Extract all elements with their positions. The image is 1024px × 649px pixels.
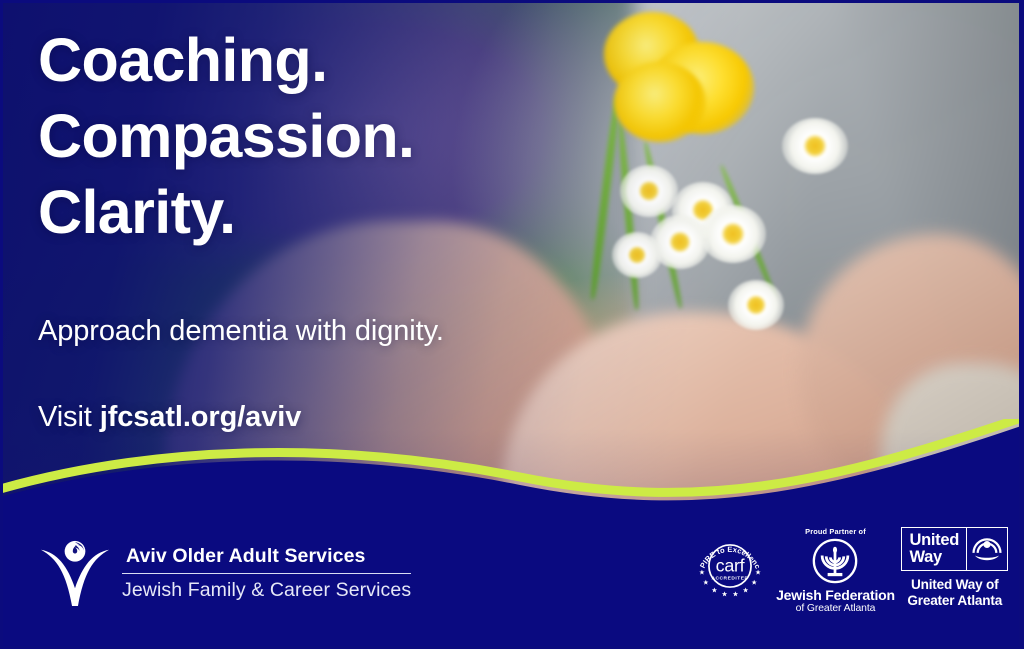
- jfcs-logo-lockup[interactable]: Aviv Older Adult Services Jewish Family …: [38, 535, 411, 609]
- federation-name: Jewish Federation: [776, 587, 895, 603]
- menorah-circle-mark: [812, 538, 858, 584]
- federation-sub: of Greater Atlanta: [796, 603, 876, 614]
- jfcs-primary-name: Aviv Older Adult Services: [122, 545, 411, 574]
- advertisement-banner: Coaching. Compassion. Clarity. Approach …: [0, 0, 1024, 649]
- carf-wordmark: carf: [716, 555, 745, 575]
- headline-line-2: Compassion.: [38, 98, 658, 174]
- united-way-caption-2: Greater Atlanta: [907, 593, 1002, 608]
- carf-accredited-text: ACCREDITED: [712, 575, 749, 581]
- aviv-v-swoosh-mark: [38, 535, 112, 609]
- partner-united-way[interactable]: United Way United Way of Greate: [901, 527, 1008, 609]
- partner-jewish-federation[interactable]: Proud Partner of Jewish Federation of Gr…: [783, 527, 887, 614]
- cta-prefix: Visit: [38, 401, 100, 433]
- united-way-logo-box: United Way: [901, 527, 1008, 571]
- united-way-wordmark: United Way: [902, 528, 966, 570]
- headline-line-3: Clarity.: [38, 174, 658, 250]
- headline-line-1: Coaching.: [38, 22, 658, 98]
- subhead-text: Approach dementia with dignity.: [38, 314, 658, 348]
- call-to-action: Visit jfcsatl.org/aviv: [38, 400, 658, 434]
- united-way-symbol-cell: [966, 528, 1007, 570]
- copy-block: Coaching. Compassion. Clarity. Approach …: [38, 22, 658, 434]
- united-way-word-2: Way: [909, 549, 959, 566]
- united-way-hand-rainbow-mark: [971, 533, 1003, 565]
- cta-url[interactable]: jfcsatl.org/aviv: [100, 401, 302, 433]
- united-way-caption: United Way of Greater Atlanta: [907, 577, 1002, 609]
- federation-kicker: Proud Partner of: [805, 527, 866, 536]
- partner-carf[interactable]: ASPIRE to Excellence® carf ACCREDITED: [691, 527, 769, 605]
- united-way-caption-1: United Way of: [911, 577, 999, 592]
- page-title: Coaching. Compassion. Clarity.: [38, 22, 658, 250]
- jfcs-secondary-name: Jewish Family & Career Services: [122, 574, 411, 602]
- carf-accredited-seal: ASPIRE to Excellence® carf ACCREDITED: [691, 527, 769, 605]
- jfcs-logo-text: Aviv Older Adult Services Jewish Family …: [122, 543, 411, 602]
- united-way-word-1: United: [909, 532, 959, 549]
- footer-bar: Aviv Older Adult Services Jewish Family …: [0, 519, 1024, 649]
- partner-logos: ASPIRE to Excellence® carf ACCREDITED: [691, 527, 1008, 614]
